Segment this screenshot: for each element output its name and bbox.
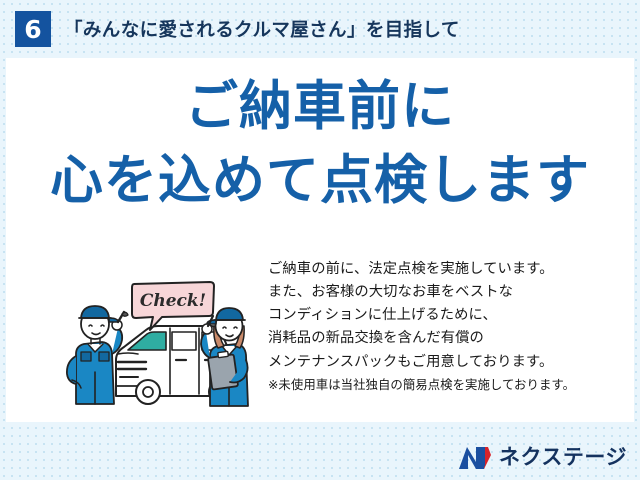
headline-line-2: 心を込めて点検します (6, 154, 634, 207)
body-note: ※未使用車は当社独自の簡易点検を実施しております。 (268, 376, 628, 396)
nextstage-logo: ネクステージ (458, 445, 627, 470)
headline: ご納車前に 心を込めて点検します (6, 80, 634, 207)
body-line: ご納車の前に、法定点検を実施しています。 (268, 258, 628, 281)
body-text-block: ご納車の前に、法定点検を実施しています。 また、お客様の大切なお車をベストな コ… (268, 258, 628, 396)
body-line: また、お客様の大切なお車をベストな (268, 281, 628, 304)
header-bar: 6 「みんなに愛されるクルマ屋さん」を目指して (0, 0, 640, 58)
section-number-badge: 6 (15, 11, 51, 47)
body-line: コンディションに仕上げるために、 (268, 304, 628, 327)
speech-bubble-label: Check! (140, 291, 206, 311)
body-line: メンテナンスパックもご用意しております。 (268, 351, 628, 374)
header-title: 「みんなに愛されるクルマ屋さん」を目指して (64, 16, 460, 42)
headline-line-1: ご納車前に (6, 80, 634, 133)
brand-name: ネクステージ (499, 447, 627, 468)
content-card: ご納車前に 心を込めて点検します ご納車の前に、法定点検を実施しています。 また… (6, 58, 634, 422)
mechanics-illustration: Check! (58, 268, 273, 408)
nextstage-logo-mark (458, 445, 492, 470)
page-background: 6 「みんなに愛されるクルマ屋さん」を目指して ご納車前に 心を込めて点検します… (0, 0, 640, 480)
body-line: 消耗品の新品交換を含んだ有償の (268, 327, 628, 350)
